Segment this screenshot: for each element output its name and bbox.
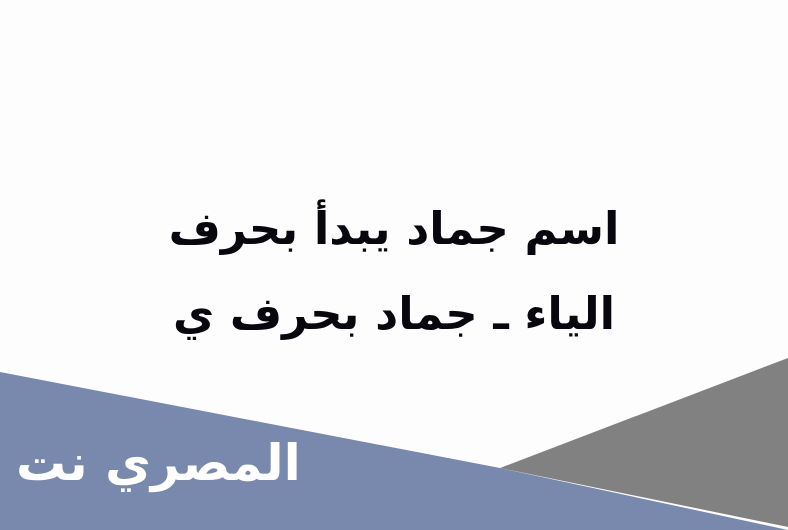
headline-text: اسم جماد يبدأ بحرف الياء ـ جماد بحرف ي [0,186,788,356]
headline-line-1: اسم جماد يبدأ بحرف [0,186,788,271]
site-watermark-logo: المصري نت [16,432,301,494]
image-card: اسم جماد يبدأ بحرف الياء ـ جماد بحرف ي ا… [0,0,788,530]
headline-line-2: الياء ـ جماد بحرف ي [0,271,788,356]
